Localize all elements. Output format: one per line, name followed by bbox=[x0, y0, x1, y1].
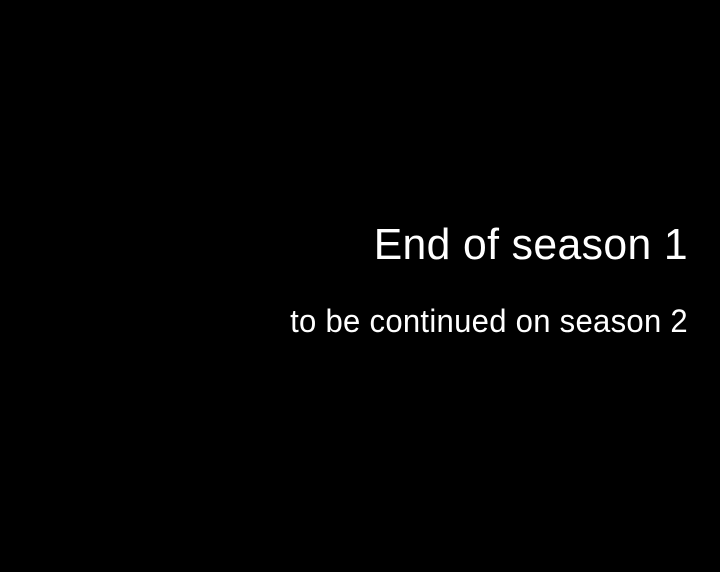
end-card-text-block: End of season 1 to be continued on seaso… bbox=[128, 222, 688, 339]
end-card-screen: End of season 1 to be continued on seaso… bbox=[0, 0, 720, 572]
to-be-continued-subtitle: to be continued on season 2 bbox=[145, 305, 688, 339]
end-of-season-title: End of season 1 bbox=[145, 222, 688, 269]
text-gap-spacer bbox=[128, 269, 688, 305]
